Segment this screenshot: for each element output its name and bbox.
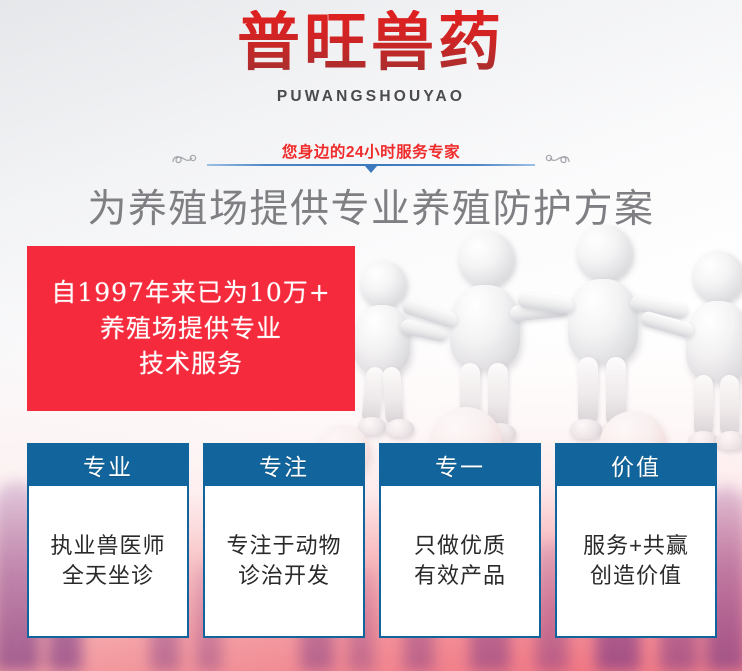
feature-card-line: 诊治开发 (238, 561, 330, 591)
highlight-line: 技术服务 (139, 346, 243, 382)
feature-cards-row: 专业 执业兽医师 全天坐诊 专注 专注于动物 诊治开发 专一 只做优质 有效产品… (27, 443, 717, 638)
feature-card-line: 执业兽医师 (50, 531, 165, 561)
highlight-line: 养殖场提供专业 (100, 311, 282, 347)
tagline-text: 您身边的24小时服务专家 (175, 140, 567, 162)
feature-card-title: 专注 (203, 443, 365, 486)
feature-card-title: 专一 (379, 443, 541, 486)
feature-card-body: 执业兽医师 全天坐诊 (27, 486, 189, 638)
feature-card-body: 服务+共赢 创造价值 (555, 486, 717, 638)
feature-card-body: 专注于动物 诊治开发 (203, 486, 365, 638)
promotional-banner: 普旺兽药 PUWANGSHOUYAO 您身边的24小时服务专家 为养殖场提供专业… (0, 0, 742, 671)
brand-logo-title: 普旺兽药 (0, 10, 742, 76)
feature-card-title: 专业 (27, 443, 189, 486)
feature-card-line: 全天坐诊 (62, 561, 154, 591)
highlight-statement-box: 自1997年来已为10万+ 养殖场提供专业 技术服务 (27, 246, 355, 411)
triangle-down-icon (365, 166, 377, 173)
feature-card-body: 只做优质 有效产品 (379, 486, 541, 638)
feature-card-value[interactable]: 价值 服务+共赢 创造价值 (555, 443, 717, 638)
feature-card-specialization[interactable]: 专一 只做优质 有效产品 (379, 443, 541, 638)
feature-card-title: 价值 (555, 443, 717, 486)
page-headline: 为养殖场提供专业养殖防护方案 (0, 178, 742, 234)
feature-card-line: 有效产品 (414, 561, 506, 591)
feature-card-line: 服务+共赢 (583, 531, 689, 561)
feature-card-line: 专注于动物 (226, 531, 341, 561)
feature-card-line: 创造价值 (590, 561, 682, 591)
highlight-line: 自1997年来已为10万+ (51, 275, 330, 311)
feature-card-professional[interactable]: 专业 执业兽医师 全天坐诊 (27, 443, 189, 638)
feature-card-line: 只做优质 (414, 531, 506, 561)
feature-card-focus[interactable]: 专注 专注于动物 诊治开发 (203, 443, 365, 638)
brand-logo-pinyin: PUWANGSHOUYAO (0, 88, 742, 106)
tagline-block: 您身边的24小时服务专家 (175, 140, 567, 174)
